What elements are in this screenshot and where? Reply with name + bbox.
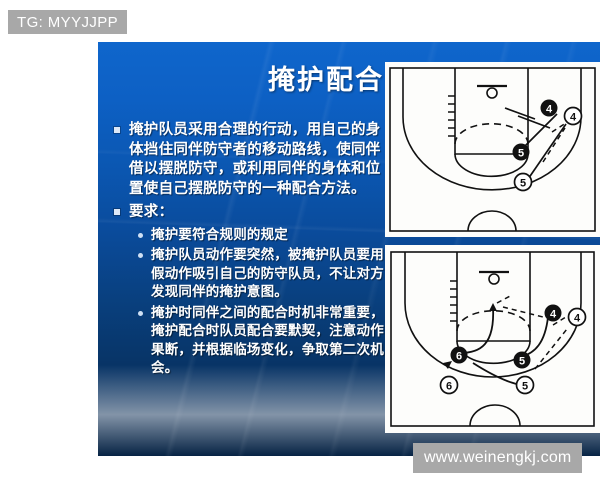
court-diagram-svg: 6 6 5 5 4 4 [385, 245, 600, 433]
sub-bullet-text: 掩护要符合规则的规定 [151, 226, 288, 245]
slide-body-text: 掩护队员采用合理的行动，用自己的身体挡住同伴防守者的移动路线，使同伴借以摆脱防守… [114, 120, 392, 380]
svg-text:5: 5 [522, 381, 528, 393]
svg-text:4: 4 [570, 112, 577, 124]
svg-text:4: 4 [550, 309, 557, 321]
player-marker-offense-6: 6 [451, 347, 468, 364]
list-item: 掩护队员动作要突然，被掩护队员要用假动作吸引自己的防守队员，不让对方发现同伴的掩… [138, 246, 392, 302]
sub-bullet-text: 掩护队员动作要突然，被掩护队员要用假动作吸引自己的防守队员，不让对方发现同伴的掩… [151, 246, 392, 302]
sub-bullet-list: 掩护要符合规则的规定 掩护队员动作要突然，被掩护队员要用假动作吸引自己的防守队员… [138, 226, 392, 378]
svg-text:5: 5 [518, 148, 524, 160]
watermark-top-left: TG: MYYJJPP [8, 10, 127, 34]
svg-text:5: 5 [520, 178, 526, 190]
svg-text:6: 6 [446, 381, 452, 393]
player-marker-offense-5: 5 [513, 144, 530, 161]
bullet-item: 掩护队员采用合理的行动，用自己的身体挡住同伴防守者的移动路线，使同伴借以摆脱防守… [114, 120, 392, 198]
svg-text:5: 5 [519, 356, 525, 368]
player-marker-offense-5: 5 [514, 352, 531, 369]
round-bullet-icon [138, 253, 143, 258]
slide-title: 掩护配合 [98, 58, 384, 97]
court-diagram-svg: 4 4 5 5 [385, 62, 600, 237]
svg-text:6: 6 [456, 351, 462, 363]
player-marker-defense-6: 6 [441, 377, 458, 394]
bullet-text: 掩护队员采用合理的行动，用自己的身体挡住同伴防守者的移动路线，使同伴借以摆脱防守… [129, 120, 392, 198]
player-marker-defense-4: 4 [569, 309, 586, 326]
list-item: 掩护要符合规则的规定 [138, 226, 392, 245]
lower-court-diagram: 6 6 5 5 4 4 [385, 245, 600, 433]
player-marker-offense-4: 4 [541, 100, 558, 117]
sub-bullet-text: 掩护时同伴之间的配合时机非常重要，掩护配合时队员配合要默契，注意动作果断，并根据… [151, 304, 392, 378]
upper-court-diagram: 4 4 5 5 [385, 62, 600, 237]
square-bullet-icon [114, 209, 120, 215]
svg-text:4: 4 [546, 104, 553, 116]
player-marker-defense-5: 5 [515, 174, 532, 191]
presentation-slide: 掩护配合 掩护队员采用合理的行动，用自己的身体挡住同伴防守者的移动路线，使同伴借… [98, 42, 600, 456]
player-marker-defense-4: 4 [565, 108, 582, 125]
watermark-bottom-right: www.weinengkj.com [413, 443, 582, 473]
player-marker-offense-4: 4 [545, 305, 562, 322]
list-item: 掩护时同伴之间的配合时机非常重要，掩护配合时队员配合要默契，注意动作果断，并根据… [138, 304, 392, 378]
round-bullet-icon [138, 311, 143, 316]
round-bullet-icon [138, 233, 143, 238]
player-marker-defense-5: 5 [517, 377, 534, 394]
bullet-text: 要求： [129, 202, 173, 222]
square-bullet-icon [114, 127, 120, 133]
bullet-item: 要求： [114, 202, 392, 222]
svg-text:4: 4 [574, 313, 581, 325]
